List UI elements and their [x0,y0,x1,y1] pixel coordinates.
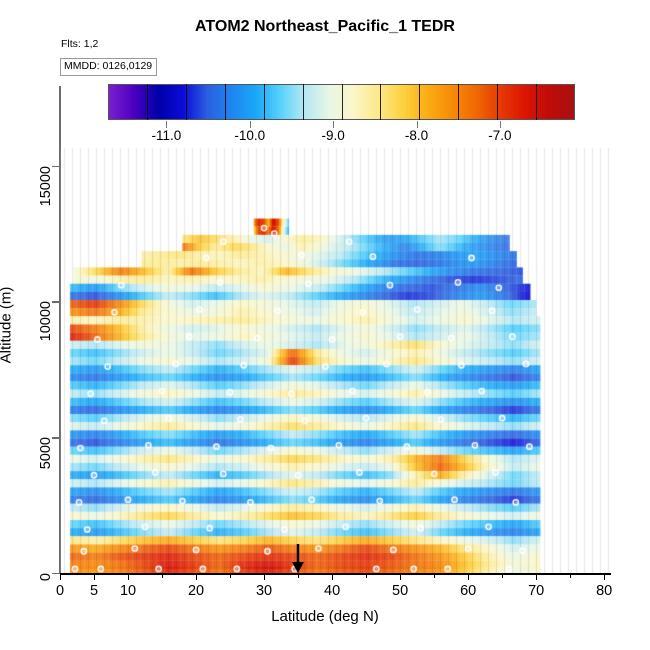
x-tick-label: 70 [528,583,544,599]
y-tick-label: 0 [38,573,54,581]
colorbar-tick [250,121,251,128]
colorbar-tick-label: -7.0 [488,128,511,143]
latitude-marker-arrow [288,542,308,574]
y-tick-label: 15000 [38,166,54,206]
colorbar: -11.0-10.0-9.0-8.0-7.0 [108,84,575,120]
colorbar-separator [147,84,148,120]
colorbar-tick [417,121,418,128]
colorbar-tick-label: -10.0 [234,128,265,143]
x-tick-label: 80 [596,583,612,599]
colorbar-tick [166,121,167,128]
page-title: ATOM2 Northeast_Pacific_1 TEDR [0,18,650,36]
x-tick-label: 0 [56,583,64,599]
colorbar-separator [380,84,381,120]
x-tick-label: 30 [256,583,272,599]
x-tick [264,573,265,580]
x-minor-tick [366,573,367,578]
x-minor-tick [570,573,571,578]
colorbar-separator [536,84,537,120]
x-minor-tick [162,573,163,578]
x-tick-label: 40 [324,583,340,599]
x-tick [128,573,129,580]
colorbar-separator [186,84,187,120]
x-tick [196,573,197,580]
colorbar-separator [497,84,498,120]
x-tick-label: 20 [188,583,204,599]
x-minor-tick [434,573,435,578]
x-tick [468,573,469,580]
colorbar-tick-label: -8.0 [405,128,428,143]
flights-label: Flts: 1,2 [61,38,98,50]
colorbar-separator [419,84,420,120]
x-axis-title: Latitude (deg N) [0,608,650,625]
colorbar-tick [500,121,501,128]
x-tick [536,573,537,580]
x-tick-label: 5 [90,583,98,599]
y-axis-title: Altitude (m) [0,287,15,364]
colorbar-separator [342,84,343,120]
x-axis-line [60,573,611,575]
x-tick [60,573,61,580]
x-tick-label: 50 [392,583,408,599]
x-tick [332,573,333,580]
x-tick [400,573,401,580]
colorbar-tick-label: -9.0 [322,128,345,143]
colorbar-separator [225,84,226,120]
y-tick-label: 10000 [38,301,54,341]
colorbar-tick [333,121,334,128]
y-tick-label: 5000 [38,437,54,469]
x-minor-tick [502,573,503,578]
colorbar-separator [264,84,265,120]
x-tick [604,573,605,580]
x-tick-label: 60 [460,583,476,599]
x-minor-tick [230,573,231,578]
sample-markers [60,148,611,573]
x-tick [94,573,95,580]
colorbar-separator [458,84,459,120]
colorbar-tick-label: -11.0 [151,128,181,143]
mmdd-label: MMDD: 0126,0129 [60,58,157,76]
colorbar-separator [303,84,304,120]
x-tick-label: 10 [120,583,136,599]
